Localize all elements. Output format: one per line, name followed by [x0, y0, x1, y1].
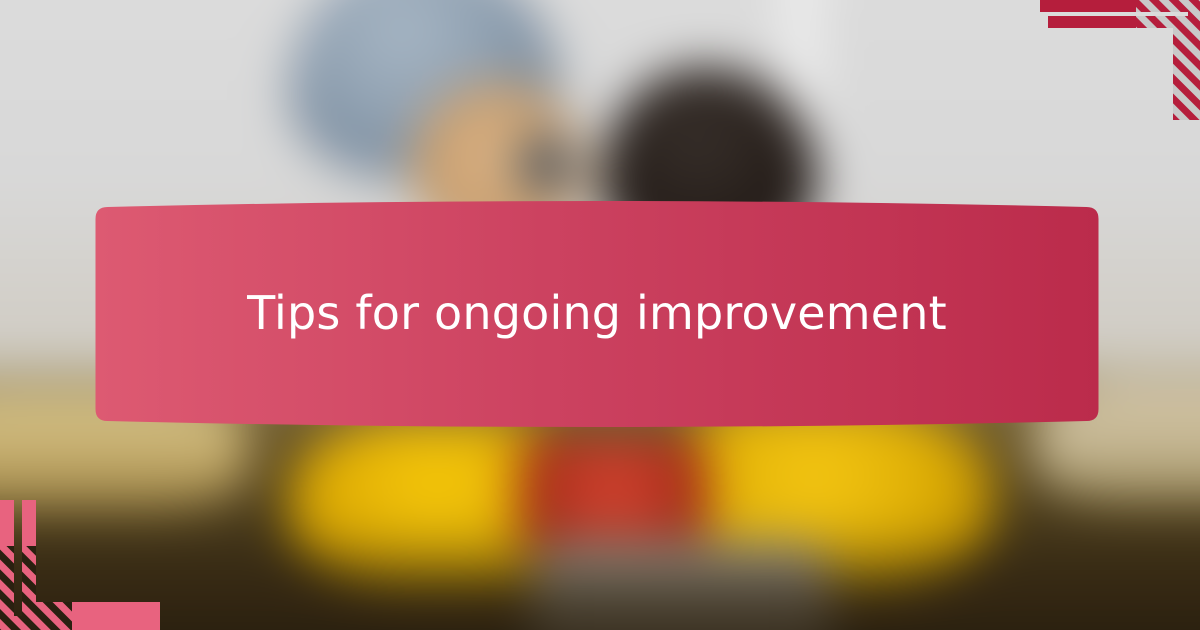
- corner-decoration-top-right: [1040, 0, 1200, 120]
- social-card-canvas: Tips for ongoing improvement: [0, 0, 1200, 630]
- banner-shape: [94, 196, 1100, 432]
- corner-bar-inner-bottom-left: [0, 500, 160, 630]
- corner-bar-inner-top-right: [1040, 0, 1200, 120]
- corner-decoration-bottom-left: [0, 500, 160, 630]
- title-banner: Tips for ongoing improvement: [94, 196, 1100, 432]
- background-floor: [0, 526, 1200, 630]
